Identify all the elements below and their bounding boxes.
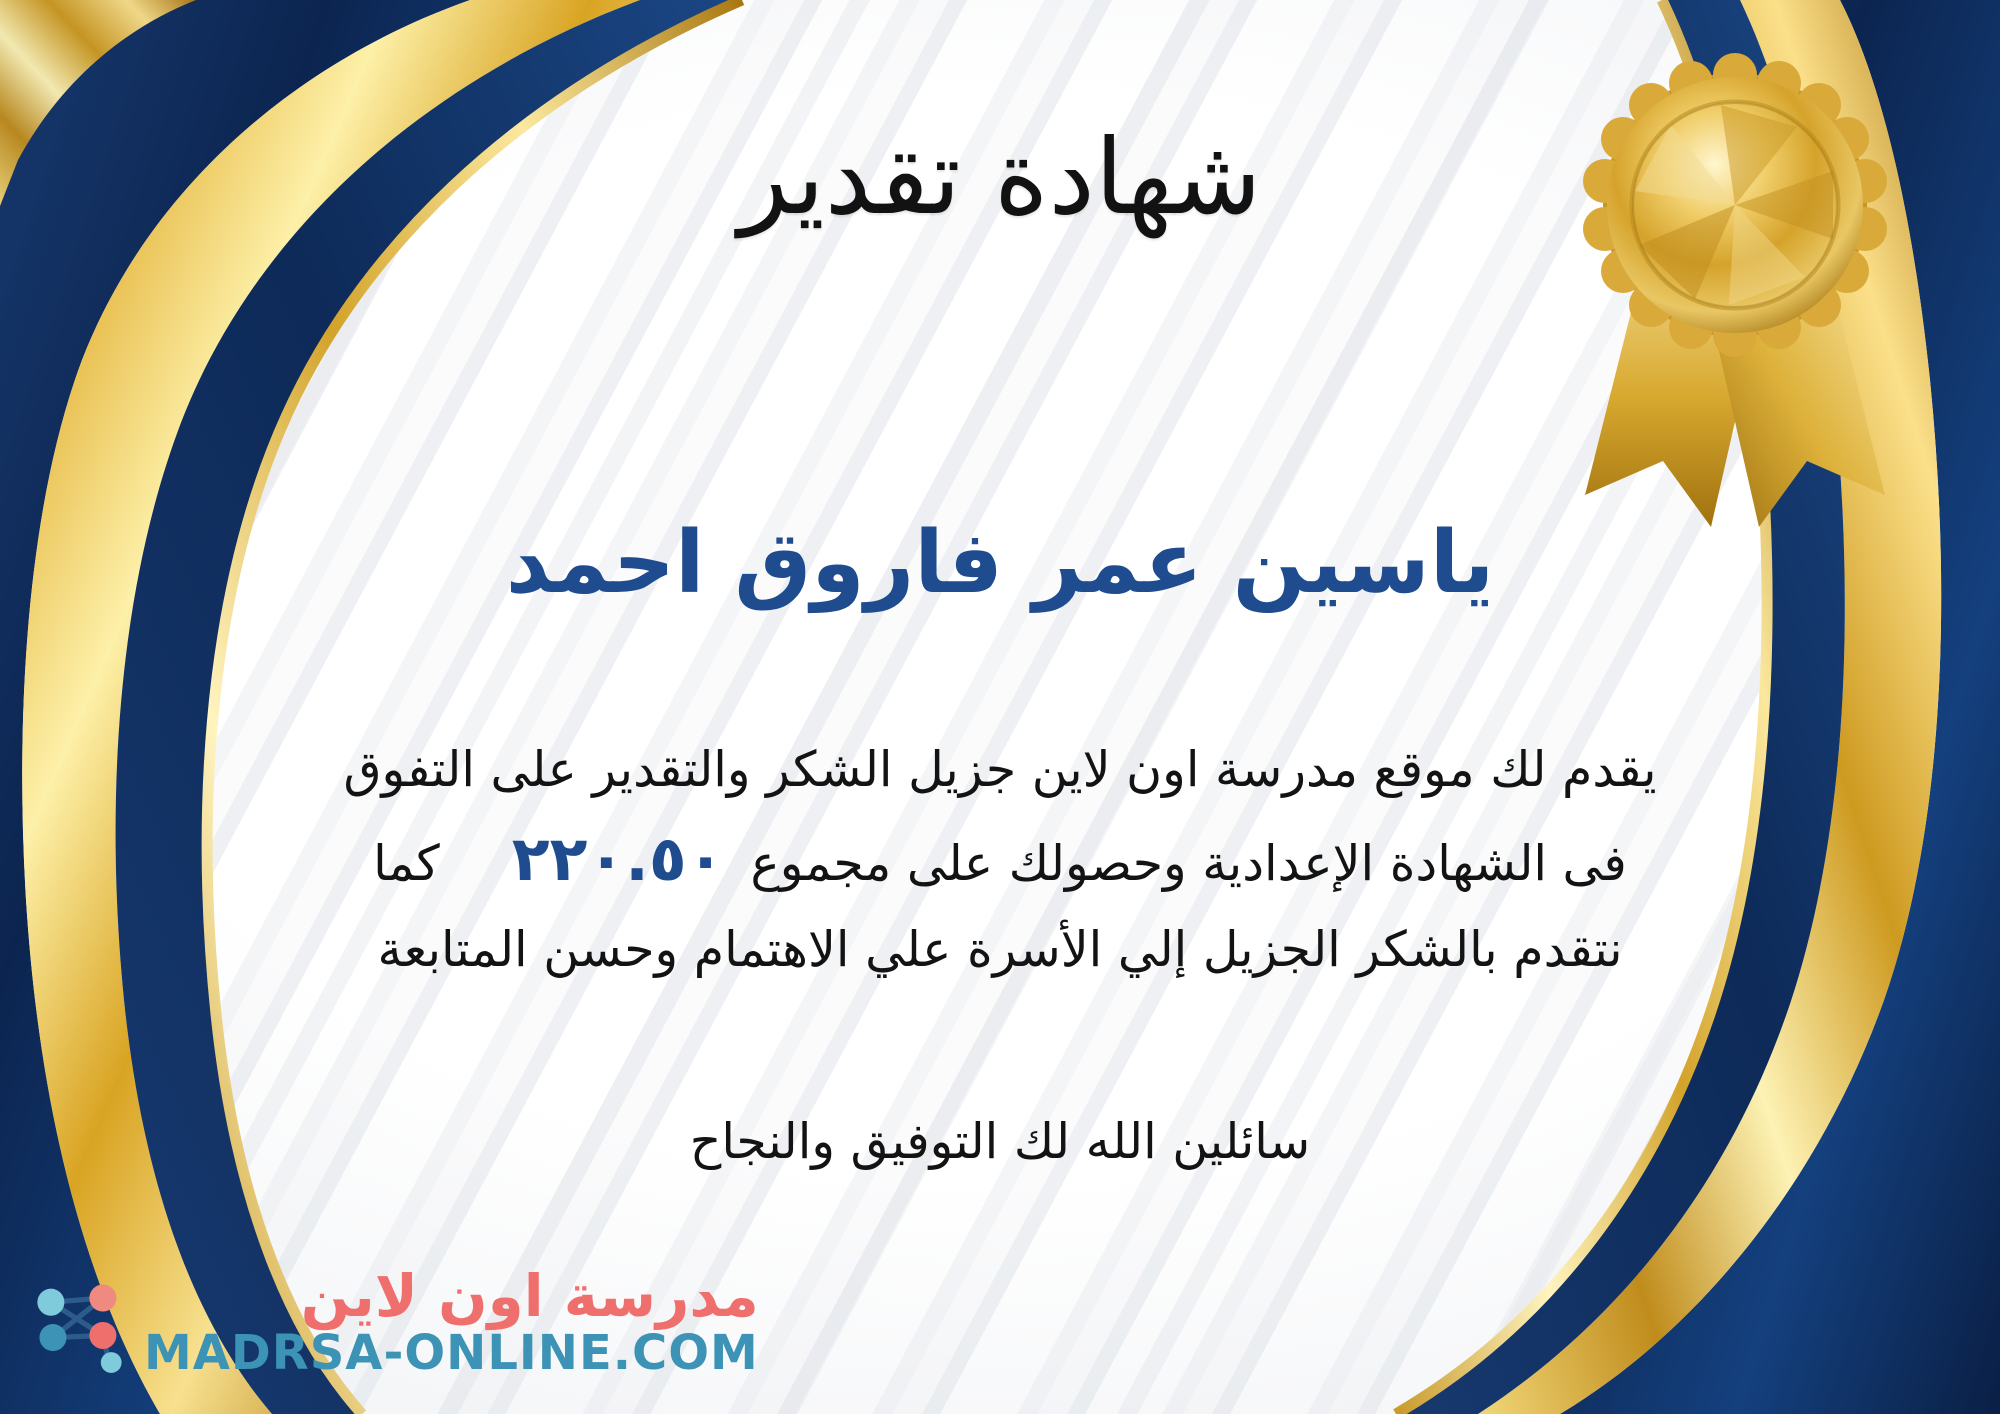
- brand-logo[interactable]: مدرسة اون لاين MADRSA-ONLINE.COM: [28, 1266, 759, 1380]
- body-line-3: نتقدم بالشكر الجزيل إلي الأسرة علي الاهت…: [60, 910, 1940, 989]
- body-line-2-prefix: فى الشهادة الإعدادية وحصولك على مجموع: [751, 835, 1627, 892]
- closing-wish: سائلين الله لك التوفيق والنجاح: [0, 1105, 2000, 1179]
- recipient-name: ياسين عمر فاروق احمد: [0, 512, 2000, 615]
- body-line-1: يقدم لك موقع مدرسة اون لاين جزيل الشكر و…: [60, 730, 1940, 809]
- body-line-2: فى الشهادة الإعدادية وحصولك على مجموع٢٢٠…: [60, 809, 1940, 909]
- brand-logo-text: مدرسة اون لاين MADRSA-ONLINE.COM: [144, 1266, 759, 1380]
- body-line-2-suffix: كما: [373, 835, 440, 892]
- network-nodes-icon: [28, 1271, 132, 1375]
- certificate-body: يقدم لك موقع مدرسة اون لاين جزيل الشكر و…: [60, 730, 1940, 989]
- brand-name-arabic: مدرسة اون لاين: [301, 1266, 759, 1327]
- brand-website: MADRSA-ONLINE.COM: [144, 1327, 759, 1380]
- grade-total-value: ٢٢٠.٥٠: [486, 822, 751, 895]
- certificate-content: شهادة تقدير ياسين عمر فاروق احمد يقدم لك…: [0, 0, 2000, 1414]
- certificate-title: شهادة تقدير: [0, 118, 2000, 238]
- certificate-page: شهادة تقدير ياسين عمر فاروق احمد يقدم لك…: [0, 0, 2000, 1414]
